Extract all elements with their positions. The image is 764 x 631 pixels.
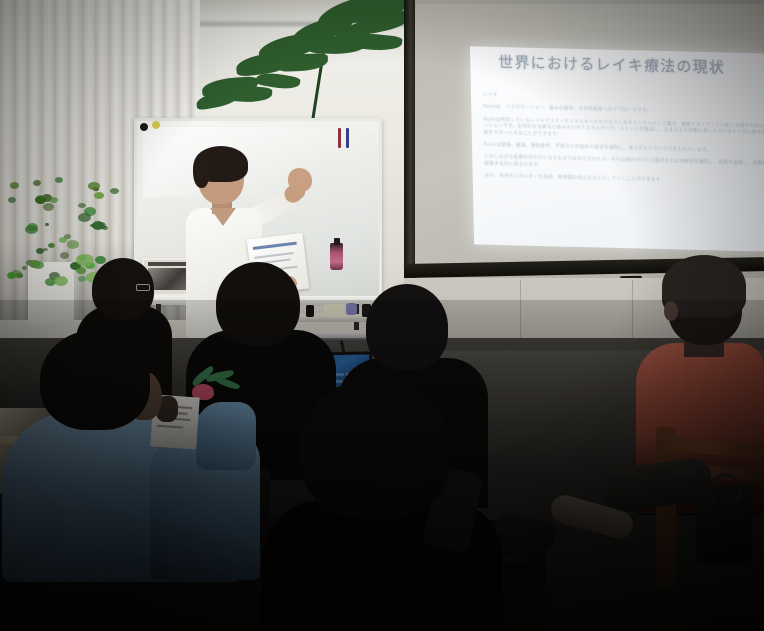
attendee-arm: [196, 402, 256, 470]
plant-leaf: [92, 221, 104, 230]
projected-slide: 世界におけるレイキ療法の現状 レイキReikiは、リラクゼーション、痛みの緩和、…: [470, 46, 764, 251]
plant-leaf: [49, 197, 58, 203]
presenter-hair-side: [193, 156, 209, 188]
magnet-black-icon: [140, 123, 148, 131]
plant-leaf: [43, 203, 54, 211]
slide-body-paragraph: Reikiは頭痛、腰痛、慢性疲労、不安などの症状や症状を緩和し、安らぎとリラック…: [484, 143, 764, 156]
laptop-screen-element: [335, 373, 344, 376]
handout-line: [253, 242, 297, 250]
plant-leaf: [48, 243, 55, 248]
plant-leaf: [78, 276, 86, 282]
slide-body: レイキReikiは、リラクゼーション、痛みの緩和、その他医療へのアプローチです。…: [483, 93, 764, 194]
plant-leaf: [64, 234, 71, 239]
slide-body-paragraph: Reikiは内在しているレイキマスターのエネルギーやセラピストのチャンネルとして…: [483, 117, 764, 143]
plant-leaf: [60, 252, 69, 259]
marker-blue-icon: [346, 128, 349, 148]
plant-leaf: [67, 240, 79, 249]
slide-body-paragraph: Reikiは、リラクゼーション、痛みの緩和、その他医療へのアプローチです。: [483, 105, 764, 118]
shelf-box: [324, 304, 344, 317]
plant-leaf: [35, 196, 46, 204]
plant-pot: [28, 262, 74, 324]
slide-title: 世界におけるレイキ療法の現状: [498, 51, 725, 78]
presenter-raised-hand: [288, 168, 312, 192]
plant-leaf: [110, 188, 119, 194]
slide-body-paragraph: しかしながら医療の代わりになるものではありませんが、それは他のすべての医学または…: [484, 155, 764, 175]
photo-frame-top: [148, 262, 188, 266]
handout-line: [157, 425, 183, 429]
photo-image: [148, 268, 188, 290]
seminar-room-photo: 世界におけるレイキ療法の現状 レイキReikiは、リラクゼーション、痛みの緩和、…: [0, 0, 764, 631]
plant-leaf: [76, 267, 86, 274]
plant-leaf: [88, 182, 100, 190]
plant-leaf: [94, 192, 104, 199]
projection-screen-surface: 世界におけるレイキ療法の現状 レイキReikiは、リラクゼーション、痛みの緩和、…: [415, 4, 764, 270]
shelf-speaker: [306, 305, 314, 317]
attendee-head: [216, 262, 300, 346]
plant-leaf: [33, 180, 41, 186]
slide-body-paragraph: レイキ: [483, 93, 764, 106]
plant-leaf: [55, 177, 63, 183]
magnet-yellow-icon: [152, 121, 160, 129]
pink-bottle-cap: [334, 238, 340, 245]
plant-leaf: [78, 213, 91, 222]
plant-leaf: [10, 182, 19, 189]
screen-side-rail: [404, 0, 415, 300]
plant-leaf: [78, 203, 86, 208]
plant-leaf: [8, 197, 16, 203]
attendee-head: [300, 378, 450, 518]
plant-leaf: [36, 248, 44, 254]
plant-leaf: [25, 225, 38, 234]
plant-leaf: [22, 266, 27, 270]
plant-leaf: [45, 223, 49, 226]
shelf-cup: [346, 303, 357, 315]
plant-leaf-highlight: [54, 276, 68, 286]
attendee-head: [366, 284, 448, 370]
potted-plant-top: [196, 0, 406, 136]
plant-leaf-highlight: [76, 254, 94, 266]
marker-red-icon: [338, 128, 341, 148]
attendee-red-shirt: [612, 255, 764, 585]
pink-bottle: [330, 243, 343, 270]
plant-leaf: [29, 260, 40, 268]
glasses-icon: [136, 284, 150, 291]
bag-strap: [708, 473, 742, 507]
attendee-ear: [664, 301, 678, 321]
plant-leaf: [11, 270, 22, 278]
attendee-head: [40, 330, 150, 430]
slide-body-paragraph: また、体中のエネルギーを高め、精神面の向上をもたらしていくことができます。: [485, 174, 764, 187]
